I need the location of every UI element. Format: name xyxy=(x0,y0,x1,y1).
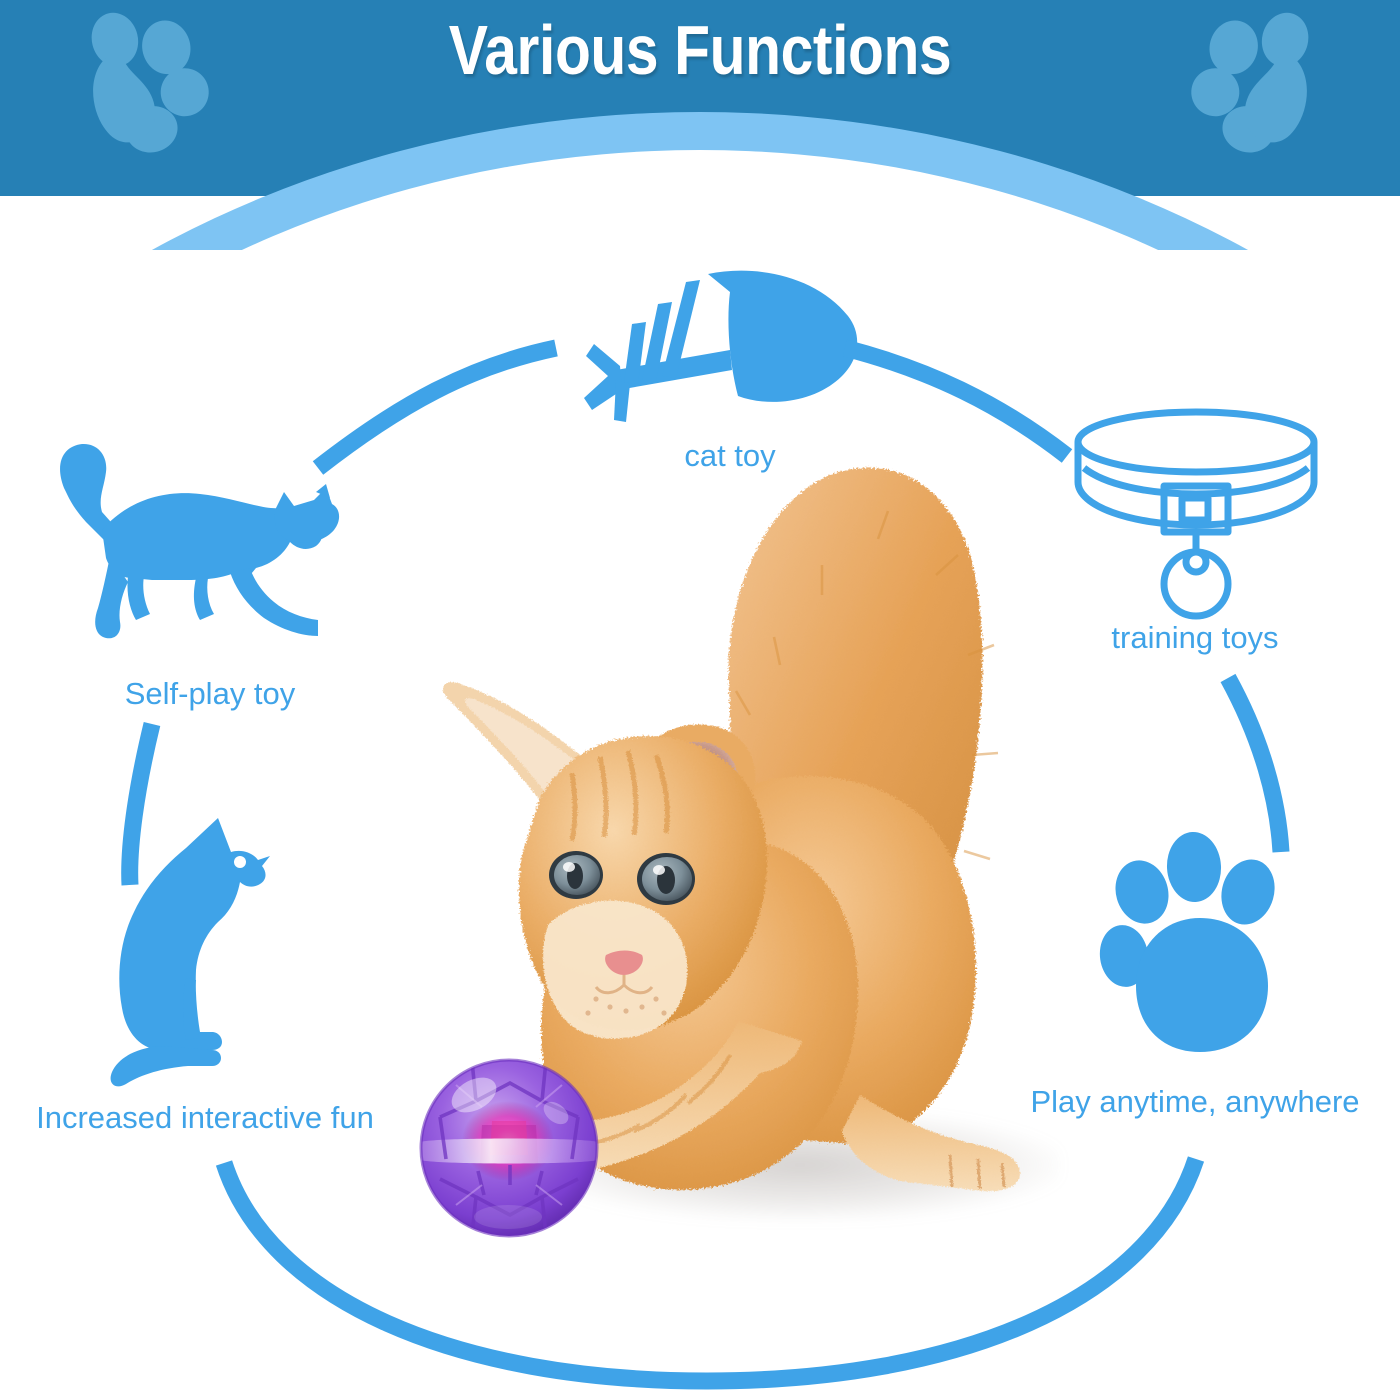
kitten-hind-paw xyxy=(842,1095,1020,1191)
kitten-eye-left xyxy=(549,851,603,899)
led-ball-toy xyxy=(416,1055,602,1241)
infographic-page: Various Functions xyxy=(0,0,1400,1400)
arc-training-to-play xyxy=(1228,678,1281,852)
arc-cattoy-to-training xyxy=(845,348,1067,456)
kitten-eye-right xyxy=(637,853,695,905)
arc-fun-to-selfplay xyxy=(130,724,152,885)
arc-selfplay-to-cattoy xyxy=(318,348,556,468)
page-title: Various Functions xyxy=(112,14,1288,88)
kitten-head xyxy=(443,682,767,1039)
